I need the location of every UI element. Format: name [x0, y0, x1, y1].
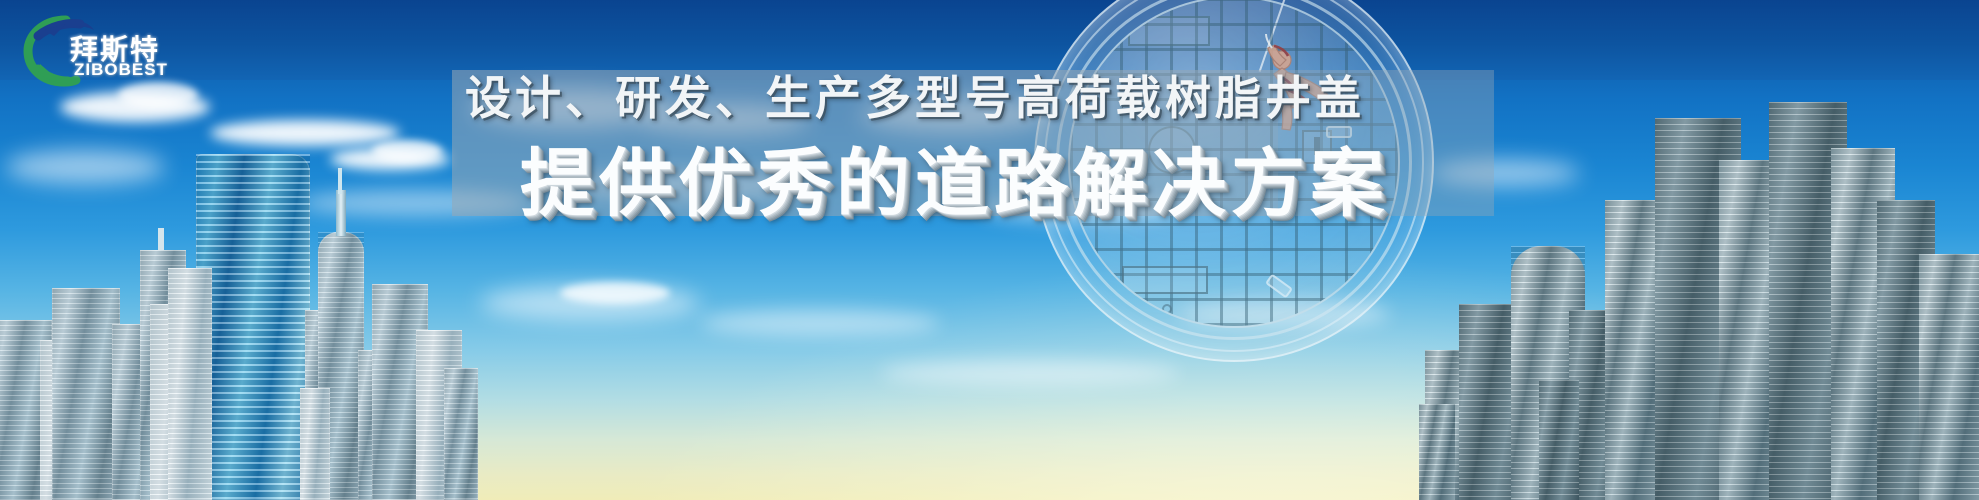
- company-logo[interactable]: 拜斯特 ZIBOBEST: [14, 6, 174, 92]
- logo-name-en: ZIBOBEST: [74, 60, 168, 80]
- headline-primary: 设计、研发、生产多型号高荷载树脂井盖: [465, 62, 1365, 128]
- promo-banner: 设计、研发、生产多型号高荷载树脂井盖 提供优秀的道路解决方案 拜斯特 ZIBOB…: [0, 0, 1979, 500]
- headline-secondary: 提供优秀的道路解决方案: [520, 124, 1389, 231]
- right-cityscape: [1419, 70, 1979, 500]
- left-cityscape: [0, 100, 470, 500]
